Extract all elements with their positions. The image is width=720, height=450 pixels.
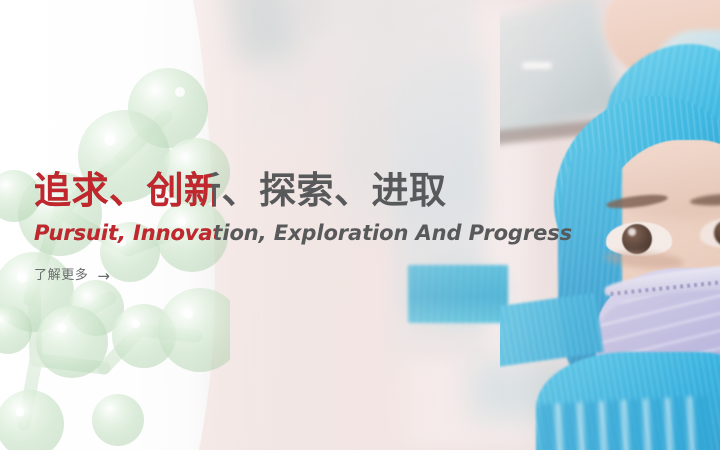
page-subtitle: Pursuit, Innovation, Exploration And Pro…	[34, 220, 674, 246]
page-title: 追求、创新、探索、进取 追求、创新、探索、进取	[34, 168, 674, 214]
arrow-right-icon: →	[97, 269, 110, 284]
hero-banner: 追求、创新、探索、进取 追求、创新、探索、进取 Pursuit, Innovat…	[0, 0, 720, 450]
learn-more-link[interactable]: 了解更多 →	[34, 268, 111, 284]
hero-content: 追求、创新、探索、进取 追求、创新、探索、进取 Pursuit, Innovat…	[34, 168, 674, 284]
learn-more-label: 了解更多	[34, 268, 88, 284]
